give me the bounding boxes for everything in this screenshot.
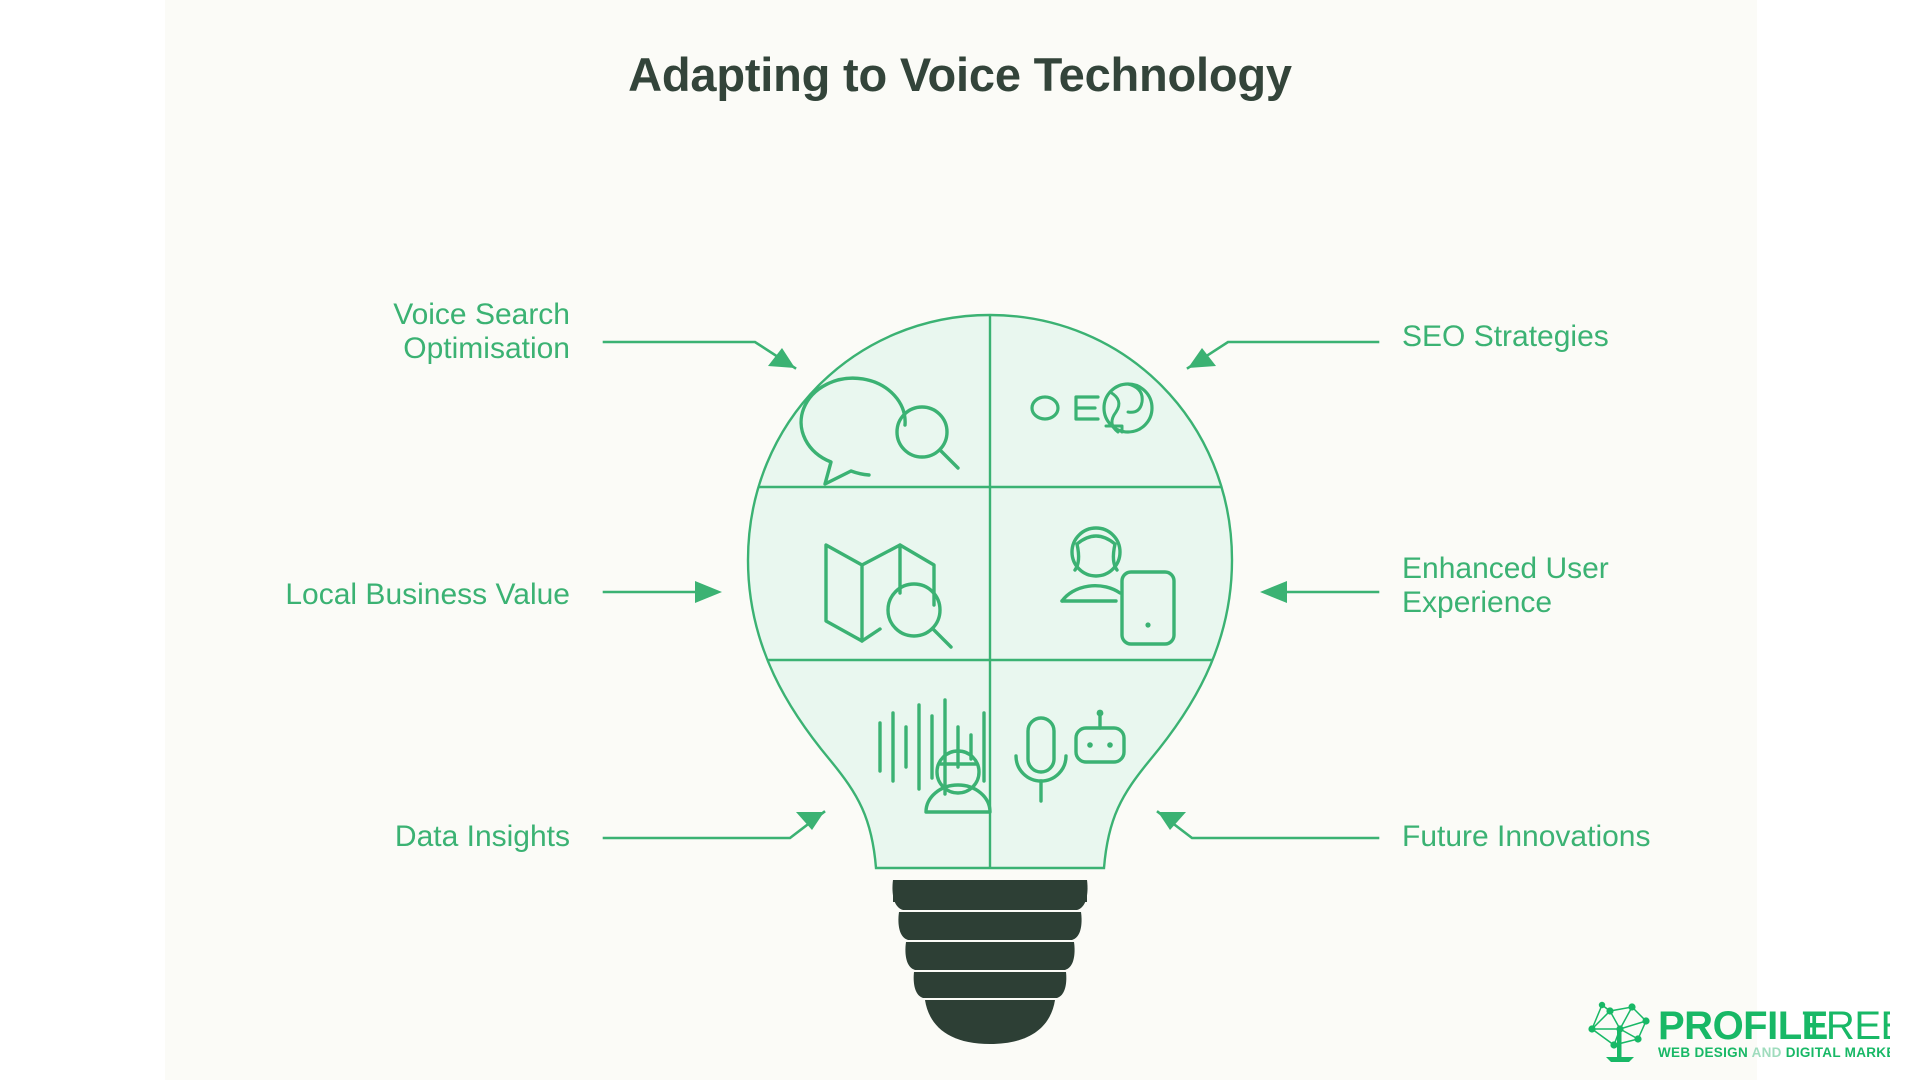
diagram-graphics	[0, 0, 1920, 1080]
connector-future	[1158, 812, 1378, 838]
logo-wordmark-light: TREE	[1802, 1004, 1890, 1048]
infographic-canvas: Adapting to Voice Technology Voice Searc…	[0, 0, 1920, 1080]
connector-data-insights	[604, 812, 824, 838]
tree-network-icon	[1588, 1002, 1649, 1062]
connector-enhanced-ux	[1260, 581, 1378, 603]
bulb-screw-base	[892, 880, 1087, 1044]
logo-tagline: WEB DESIGN AND DIGITAL MARKETING	[1658, 1045, 1890, 1060]
connector-voice-search	[604, 342, 795, 368]
profiletree-logo[interactable]: PROFILE TREE WEB DESIGN AND DIGITAL MARK…	[1580, 995, 1890, 1065]
connector-seo	[1188, 342, 1378, 368]
connector-local-business	[604, 581, 722, 603]
